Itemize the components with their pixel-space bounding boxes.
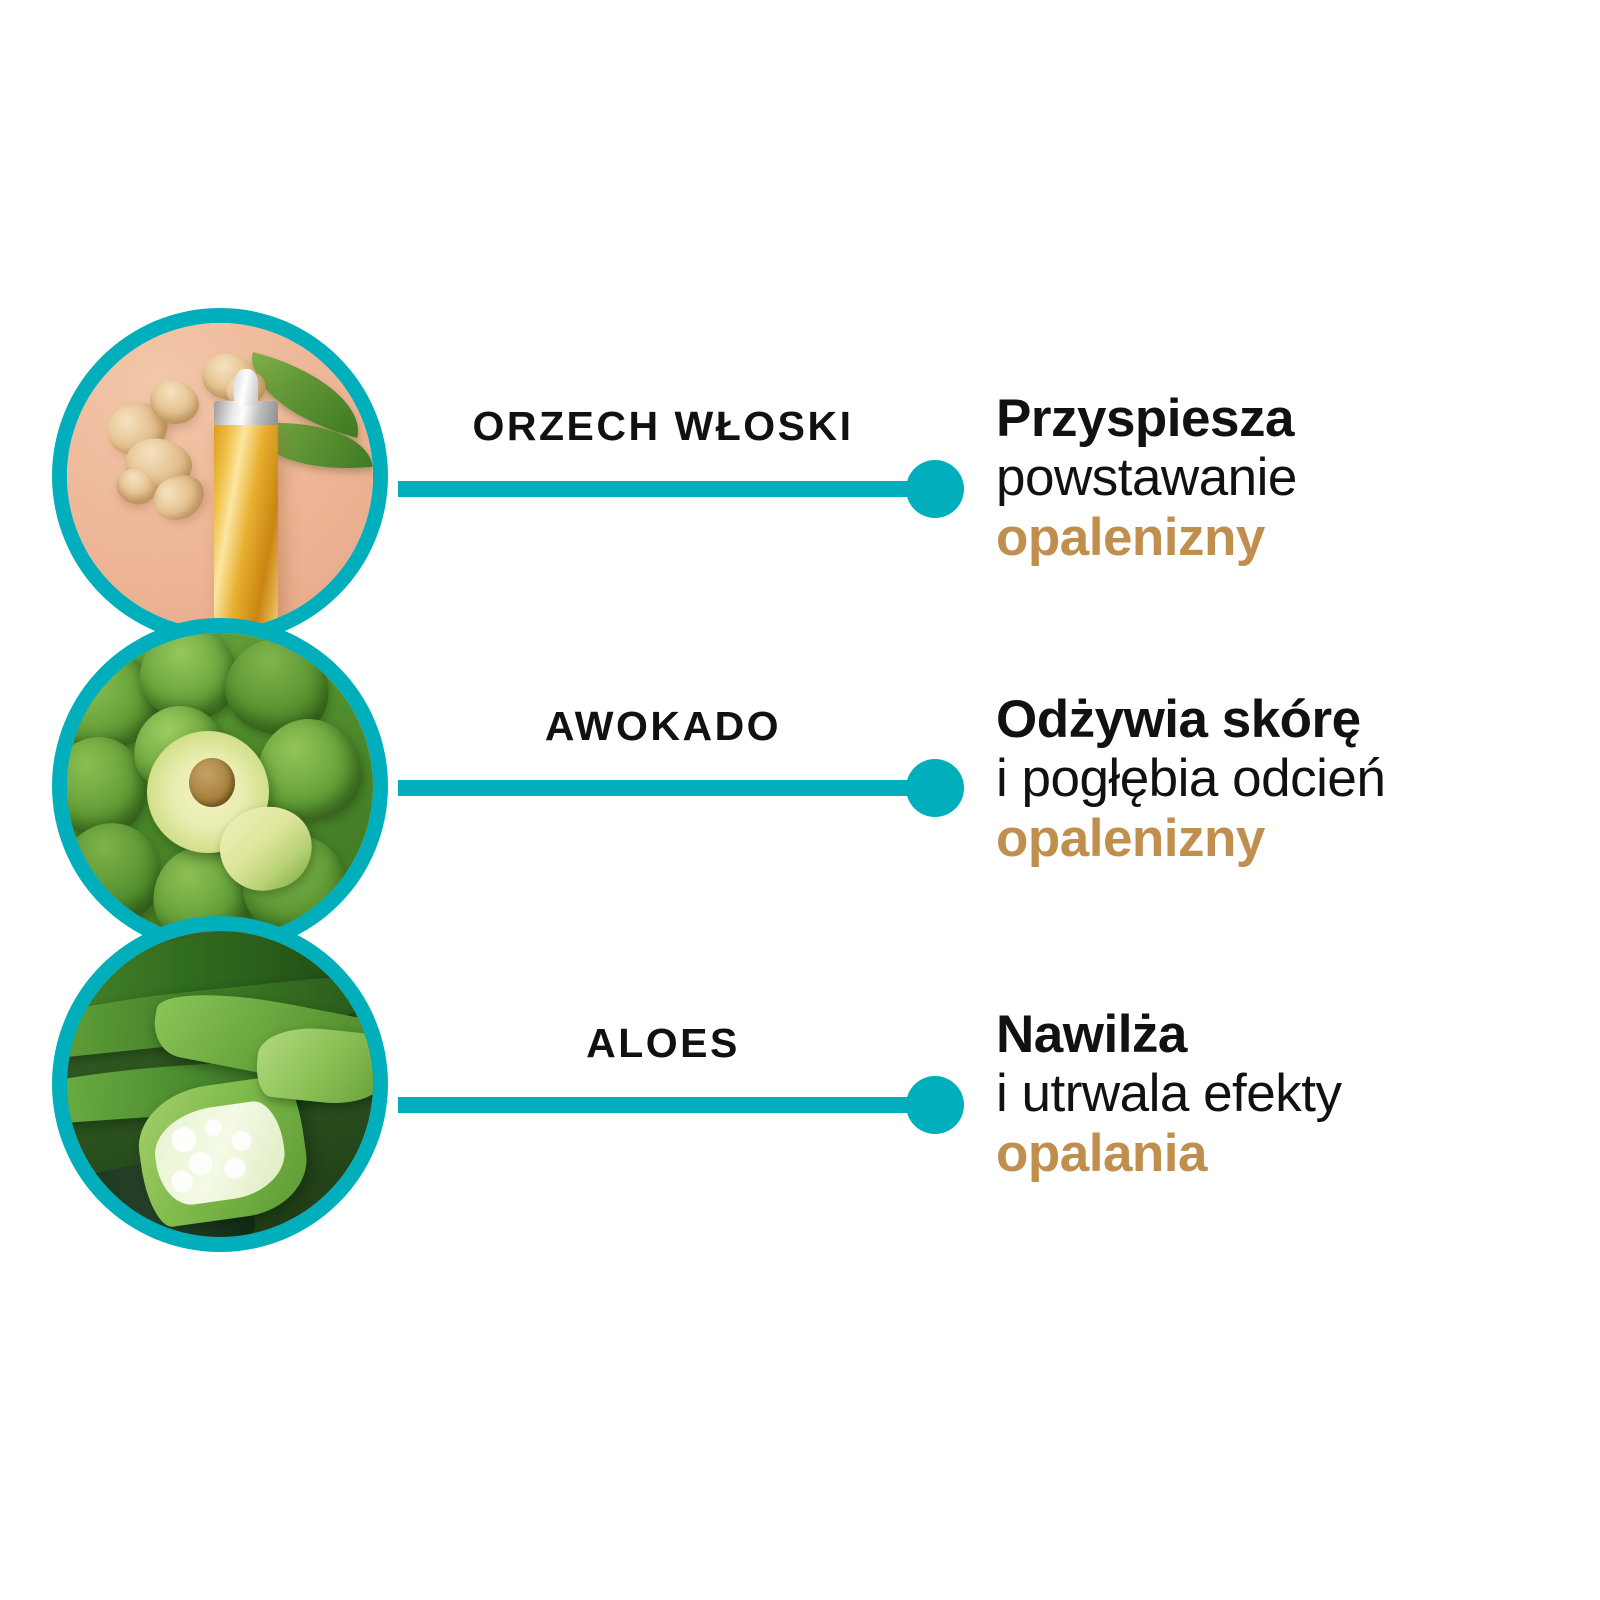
aloe-image [67, 931, 373, 1237]
benefit-line-2: i pogłębia odcień [996, 749, 1385, 808]
ingredient-label-aloe: ALOES [398, 1020, 928, 1067]
benefit-block-avocado: Odżywia skórę i pogłębia odcień opaleniz… [996, 690, 1385, 868]
walnut-image [67, 323, 373, 629]
benefit-line-3: opalenizny [996, 809, 1385, 868]
connector-line-walnut [398, 481, 928, 497]
connector-line-aloe [398, 1097, 928, 1113]
ingredient-circle-avocado [52, 618, 388, 954]
benefit-line-3: opalania [996, 1124, 1341, 1183]
benefit-line-2: powstawanie [996, 448, 1297, 507]
connector-dot-walnut [906, 460, 964, 518]
avocado-image [67, 633, 373, 939]
connector-dot-aloe [906, 1076, 964, 1134]
walnut-photo-canvas [67, 323, 373, 629]
benefit-block-walnut: Przyspiesza powstawanie opalenizny [996, 389, 1297, 567]
benefit-line-2: i utrwala efekty [996, 1064, 1341, 1123]
benefit-line-1: Odżywia skórę [996, 690, 1385, 749]
benefit-line-3: opalenizny [996, 508, 1297, 567]
aloe-gel [150, 1097, 291, 1208]
connector-dot-avocado [906, 759, 964, 817]
benefit-block-aloe: Nawilża i utrwala efekty opalania [996, 1005, 1341, 1183]
benefit-line-1: Nawilża [996, 1005, 1341, 1064]
connector-line-avocado [398, 780, 928, 796]
ingredient-circle-walnut [52, 308, 388, 644]
benefit-line-1: Przyspiesza [996, 389, 1297, 448]
avocado-photo-canvas [67, 633, 373, 939]
aloe-photo-canvas [67, 931, 373, 1237]
ingredient-circle-aloe [52, 916, 388, 1252]
oil-dropper-cap [234, 369, 258, 406]
ingredient-label-avocado: AWOKADO [398, 703, 928, 750]
oil-bottle [214, 421, 278, 623]
infographic-root: ORZECH WŁOSKI AWOKADO ALOES Przyspiesza … [0, 0, 1600, 1600]
ingredient-label-walnut: ORZECH WŁOSKI [398, 403, 928, 450]
